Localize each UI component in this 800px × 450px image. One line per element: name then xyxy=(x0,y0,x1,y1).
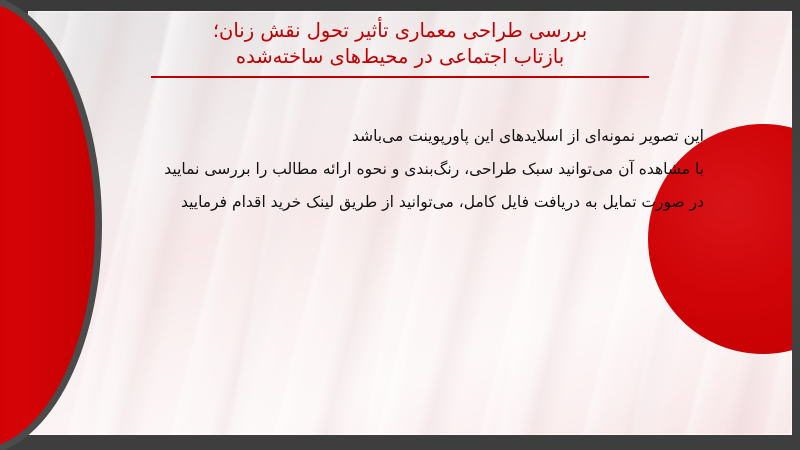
body-line-1: این تصویر نمونه‌ای از اسلایدهای این پاور… xyxy=(164,120,704,153)
slide-title-line-2: بازتاب اجتماعی در محیط‌های ساخته‌شده xyxy=(110,44,690,70)
body-line-2: با مشاهده آن می‌توانید سبک طراحی، رنگ‌بن… xyxy=(164,153,704,186)
presentation-slide: بررسی طراحی معماری تأثیر تحول نقش زنان؛ … xyxy=(0,0,800,450)
slide-body-text: این تصویر نمونه‌ای از اسلایدهای این پاور… xyxy=(164,120,704,219)
slide-title-line-1: بررسی طراحی معماری تأثیر تحول نقش زنان؛ xyxy=(110,18,690,44)
slide-title: بررسی طراحی معماری تأثیر تحول نقش زنان؛ … xyxy=(110,18,690,78)
title-underline-rule xyxy=(151,76,650,78)
body-line-3: در صورت تمایل به دریافت فایل کامل، می‌تو… xyxy=(164,186,704,219)
